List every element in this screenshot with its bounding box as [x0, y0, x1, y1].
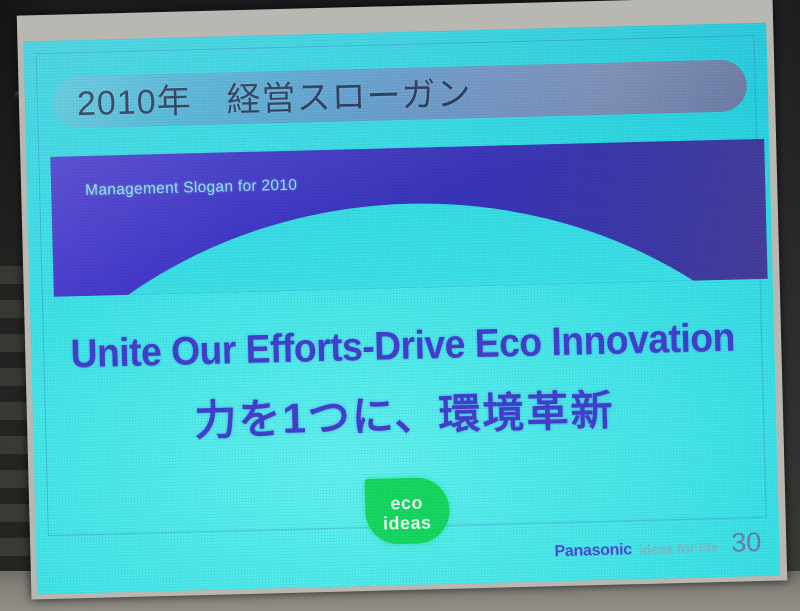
page-number: 30 [731, 527, 762, 559]
band-arc-cut [50, 192, 767, 297]
panasonic-wordmark: Panasonic [554, 541, 632, 561]
slide-footer: Panasonic ideas for life 30 [554, 527, 762, 563]
projection-screen: 2010年 経営スローガン Management Slogan for 2010… [17, 0, 788, 599]
subtitle-band: Management Slogan for 2010 [50, 139, 767, 297]
eco-logo-line1: eco [364, 493, 448, 513]
eco-ideas-leaf-icon: eco ideas [364, 477, 450, 545]
slogan-english: Unite Our Efforts-Drive Eco Innovation [57, 315, 749, 377]
slide-canvas: 2010年 経営スローガン Management Slogan for 2010… [23, 23, 780, 595]
slogan-japanese: 力を1つに、環境革新 [32, 373, 776, 453]
eco-logo-line2: ideas [365, 513, 449, 533]
brand-tagline: ideas for life [639, 540, 719, 557]
presentation-photo: 2010年 経営スローガン Management Slogan for 2010… [0, 0, 800, 611]
slide-subtitle: Management Slogan for 2010 [85, 177, 297, 200]
